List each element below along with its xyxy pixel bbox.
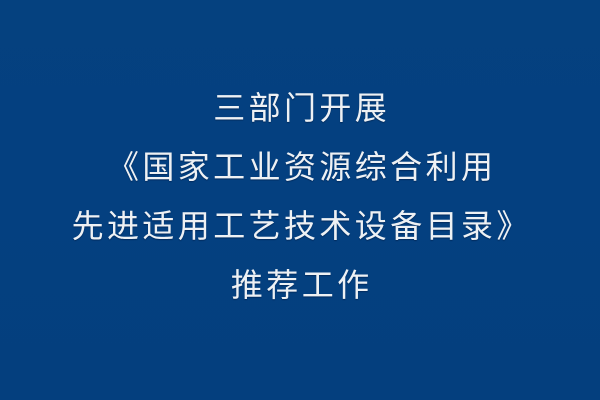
headline-line-2: 《国家工业资源综合利用 (104, 138, 497, 197)
headline-text-block: 三部门开展 《国家工业资源综合利用 先进适用工艺技术设备目录》 推荐工作 (0, 79, 600, 315)
headline-line-1: 三部门开展 (210, 79, 390, 138)
headline-line-3: 先进适用工艺技术设备目录》 (68, 197, 532, 256)
news-title-card: 三部门开展 《国家工业资源综合利用 先进适用工艺技术设备目录》 推荐工作 (0, 0, 600, 400)
headline-line-4: 推荐工作 (228, 256, 373, 315)
